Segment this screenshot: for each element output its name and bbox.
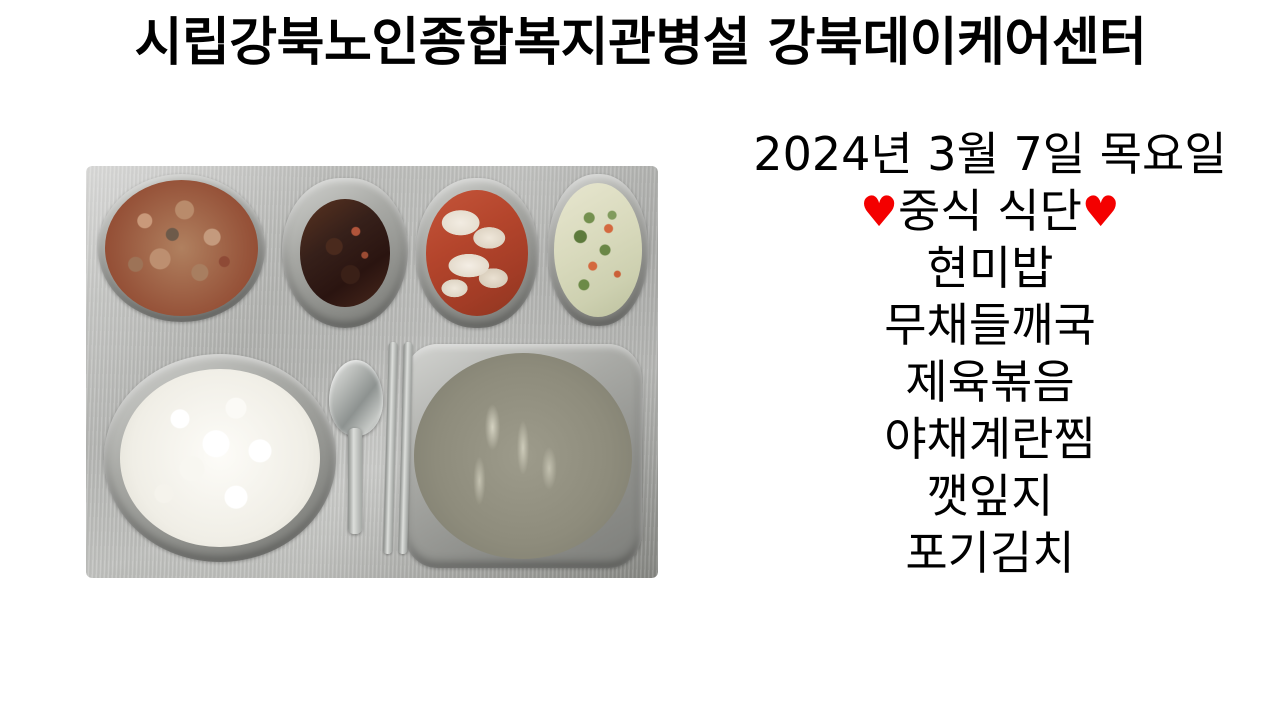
spoon-handle xyxy=(348,428,362,534)
page-title: 시립강북노인종합복지관병설 강북데이케어센터 xyxy=(0,14,1281,72)
menu-item: 제육볶음 xyxy=(700,354,1280,411)
tray-compartment-stir-fried-pork xyxy=(98,174,265,322)
menu-item: 현미밥 xyxy=(700,240,1280,297)
tray-compartment-rice xyxy=(104,354,336,562)
menu-item: 무채들깨국 xyxy=(700,297,1280,354)
spoon-icon xyxy=(329,360,383,532)
food-steamed-egg-with-vegetables xyxy=(554,183,642,317)
menu-meal-heading: ♥중식 식단♥ xyxy=(700,183,1280,240)
food-radish-perilla-soup xyxy=(414,353,633,559)
food-brown-rice xyxy=(120,369,320,548)
menu-item: 깻잎지 xyxy=(700,468,1280,525)
meal-photo-image xyxy=(86,166,658,578)
food-stir-fried-pork xyxy=(105,180,259,316)
heart-icon: ♥ xyxy=(1082,187,1120,236)
meal-photo xyxy=(86,166,658,578)
tray-compartment-kimchi xyxy=(416,178,538,328)
menu-meal-label: 중식 식단 xyxy=(898,184,1082,238)
tray-compartment-steamed-egg xyxy=(548,174,648,326)
menu-item: 포기김치 xyxy=(700,525,1280,582)
food-pickled-perilla-leaves xyxy=(300,199,391,307)
food-kimchi xyxy=(426,190,529,316)
tray-compartment-pickled-perilla xyxy=(282,178,408,328)
menu-date: 2024년 3월 7일 목요일 xyxy=(700,126,1280,183)
menu-item: 야채계란찜 xyxy=(700,411,1280,468)
spoon-bowl xyxy=(329,360,383,436)
tray-compartment-soup xyxy=(404,344,642,568)
menu-text-block: 2024년 3월 7일 목요일 ♥중식 식단♥ 현미밥 무채들깨국 제육볶음 야… xyxy=(700,126,1280,582)
menu-poster: 시립강북노인종합복지관병설 강북데이케어센터 xyxy=(0,0,1281,717)
heart-icon: ♥ xyxy=(860,187,898,236)
